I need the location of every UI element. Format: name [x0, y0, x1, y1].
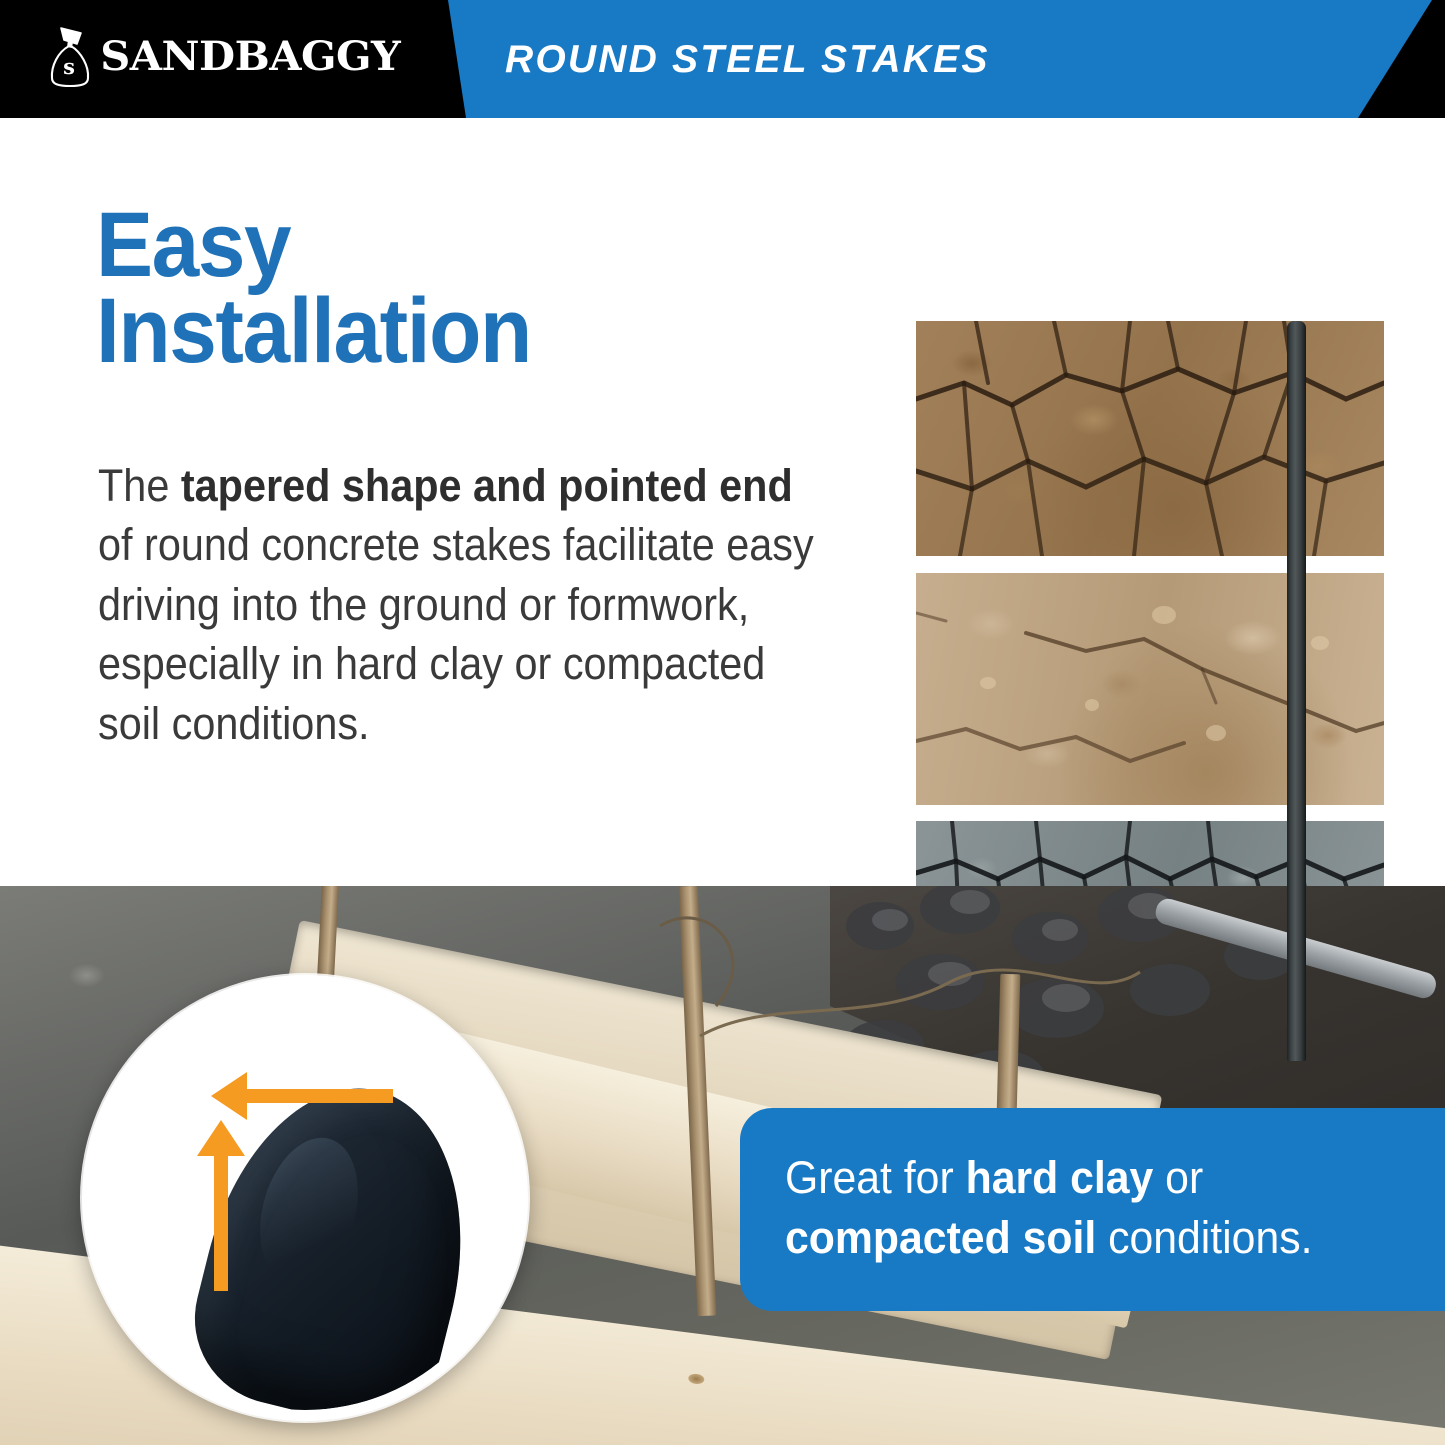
- arrow-left-icon: [211, 1072, 393, 1120]
- body-bold-1: tapered shape and pointed end: [181, 460, 793, 511]
- arrow-up-icon: [197, 1120, 245, 1291]
- tie-wire: [620, 886, 1280, 1116]
- callout-part-2: or: [1153, 1152, 1203, 1203]
- headline-line-1: Easy: [96, 203, 531, 289]
- content-area: Easy Installation The tapered shape and …: [0, 118, 1445, 886]
- svg-text:s: s: [63, 54, 75, 79]
- sandbag-icon: s: [48, 26, 92, 88]
- soil-texture-tan: [916, 573, 1384, 805]
- body-part-1: The: [98, 460, 181, 511]
- body-paragraph: The tapered shape and pointed end of rou…: [98, 456, 825, 753]
- header-title: ROUND STEEL STAKES: [505, 38, 990, 82]
- body-part-2: of round concrete stakes facilitate easy…: [98, 519, 814, 748]
- inset-background: [93, 986, 517, 1410]
- callout-part-1: Great for: [785, 1152, 966, 1203]
- direction-arrows: [93, 986, 517, 1410]
- callout-bold-2: compacted soil: [785, 1212, 1096, 1263]
- page-title: Easy Installation: [96, 203, 531, 374]
- brand-logo: s SANDBAGGY: [48, 26, 394, 88]
- steel-stake-rod: [1287, 321, 1306, 1061]
- logo-wordmark: SANDBAGGY: [100, 37, 400, 77]
- callout-bold-1: hard clay: [966, 1152, 1154, 1203]
- callout-part-3: conditions.: [1096, 1212, 1312, 1263]
- callout-text: Great for hard clay or compacted soil co…: [785, 1148, 1393, 1268]
- stake-tip-closeup: [82, 975, 528, 1421]
- soil-strip-tan: [916, 573, 1384, 805]
- infographic-page: s SANDBAGGY ROUND STEEL STAKES Easy Inst…: [0, 0, 1445, 1445]
- callout-box: Great for hard clay or compacted soil co…: [740, 1108, 1445, 1311]
- header-bar: s SANDBAGGY ROUND STEEL STAKES: [0, 0, 1445, 118]
- headline-line-2: Installation: [96, 289, 531, 375]
- wood-knot: [688, 1373, 705, 1385]
- soil-texture-brown: [916, 321, 1384, 556]
- soil-strip-brown: [916, 321, 1384, 556]
